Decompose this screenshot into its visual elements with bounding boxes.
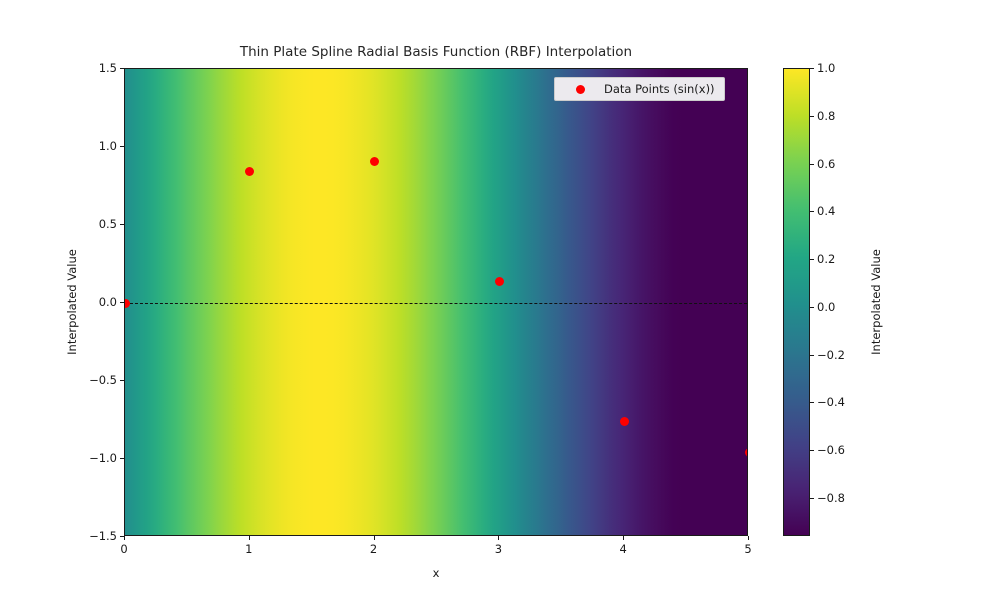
colorbar-tick-label: 1.0 [817, 61, 835, 75]
colorbar-tick [810, 498, 814, 499]
colorbar-gradient [784, 69, 809, 535]
colorbar-tick [810, 259, 814, 260]
y-tick-label: −1.0 [89, 451, 117, 465]
legend-marker-icon [576, 85, 585, 94]
colorbar-tick [810, 307, 814, 308]
data-point[interactable] [495, 277, 504, 286]
rbf-interpolation-heatmap [125, 69, 747, 535]
colorbar-tick-label: 0.0 [817, 300, 835, 314]
matplotlib-figure: Thin Plate Spline Radial Basis Function … [0, 0, 1000, 600]
colorbar-tick-label: 0.6 [817, 157, 835, 171]
zero-reference-line [125, 303, 747, 304]
data-point[interactable] [620, 417, 629, 426]
x-tick-label: 3 [495, 542, 502, 556]
y-tick [120, 536, 124, 537]
y-tick-label: −1.5 [89, 529, 117, 543]
y-tick-label: 0.0 [99, 295, 117, 309]
y-axis-label: Interpolated Value [65, 249, 79, 355]
legend[interactable]: Data Points (sin(x)) [554, 77, 725, 101]
colorbar-tick [810, 68, 814, 69]
data-point[interactable] [370, 157, 379, 166]
x-tick-label: 5 [744, 542, 751, 556]
x-tick [623, 536, 624, 540]
colorbar-tick-label: −0.2 [817, 348, 845, 362]
y-tick [120, 146, 124, 147]
x-axis-label: x [124, 566, 748, 580]
colorbar-tick [810, 402, 814, 403]
x-tick [124, 536, 125, 540]
colorbar-tick [810, 211, 814, 212]
colorbar-tick-label: 0.2 [817, 252, 835, 266]
x-tick-label: 1 [245, 542, 252, 556]
x-tick-label: 4 [620, 542, 627, 556]
x-tick [748, 536, 749, 540]
colorbar[interactable] [783, 68, 810, 536]
page-title: Thin Plate Spline Radial Basis Function … [124, 44, 748, 60]
y-tick [120, 458, 124, 459]
colorbar-tick [810, 355, 814, 356]
colorbar-tick-label: 0.4 [817, 204, 835, 218]
y-tick-label: −0.5 [89, 373, 117, 387]
colorbar-tick-label: 0.8 [817, 109, 835, 123]
y-tick-label: 0.5 [99, 217, 117, 231]
y-tick [120, 224, 124, 225]
colorbar-tick-label: −0.4 [817, 395, 845, 409]
data-point[interactable] [124, 299, 130, 308]
colorbar-tick [810, 116, 814, 117]
plot-area[interactable] [124, 68, 748, 536]
y-tick-label: 1.0 [99, 139, 117, 153]
colorbar-tick [810, 450, 814, 451]
y-tick [120, 380, 124, 381]
y-tick-label: 1.5 [99, 61, 117, 75]
x-tick [249, 536, 250, 540]
legend-label: Data Points (sin(x)) [604, 82, 715, 96]
x-tick [498, 536, 499, 540]
x-tick-label: 0 [120, 542, 127, 556]
y-tick [120, 68, 124, 69]
x-tick [374, 536, 375, 540]
y-tick [120, 302, 124, 303]
colorbar-label: Interpolated Value [869, 249, 883, 355]
colorbar-tick-label: −0.6 [817, 443, 845, 457]
x-tick-label: 2 [370, 542, 377, 556]
colorbar-tick [810, 164, 814, 165]
colorbar-tick-label: −0.8 [817, 491, 845, 505]
